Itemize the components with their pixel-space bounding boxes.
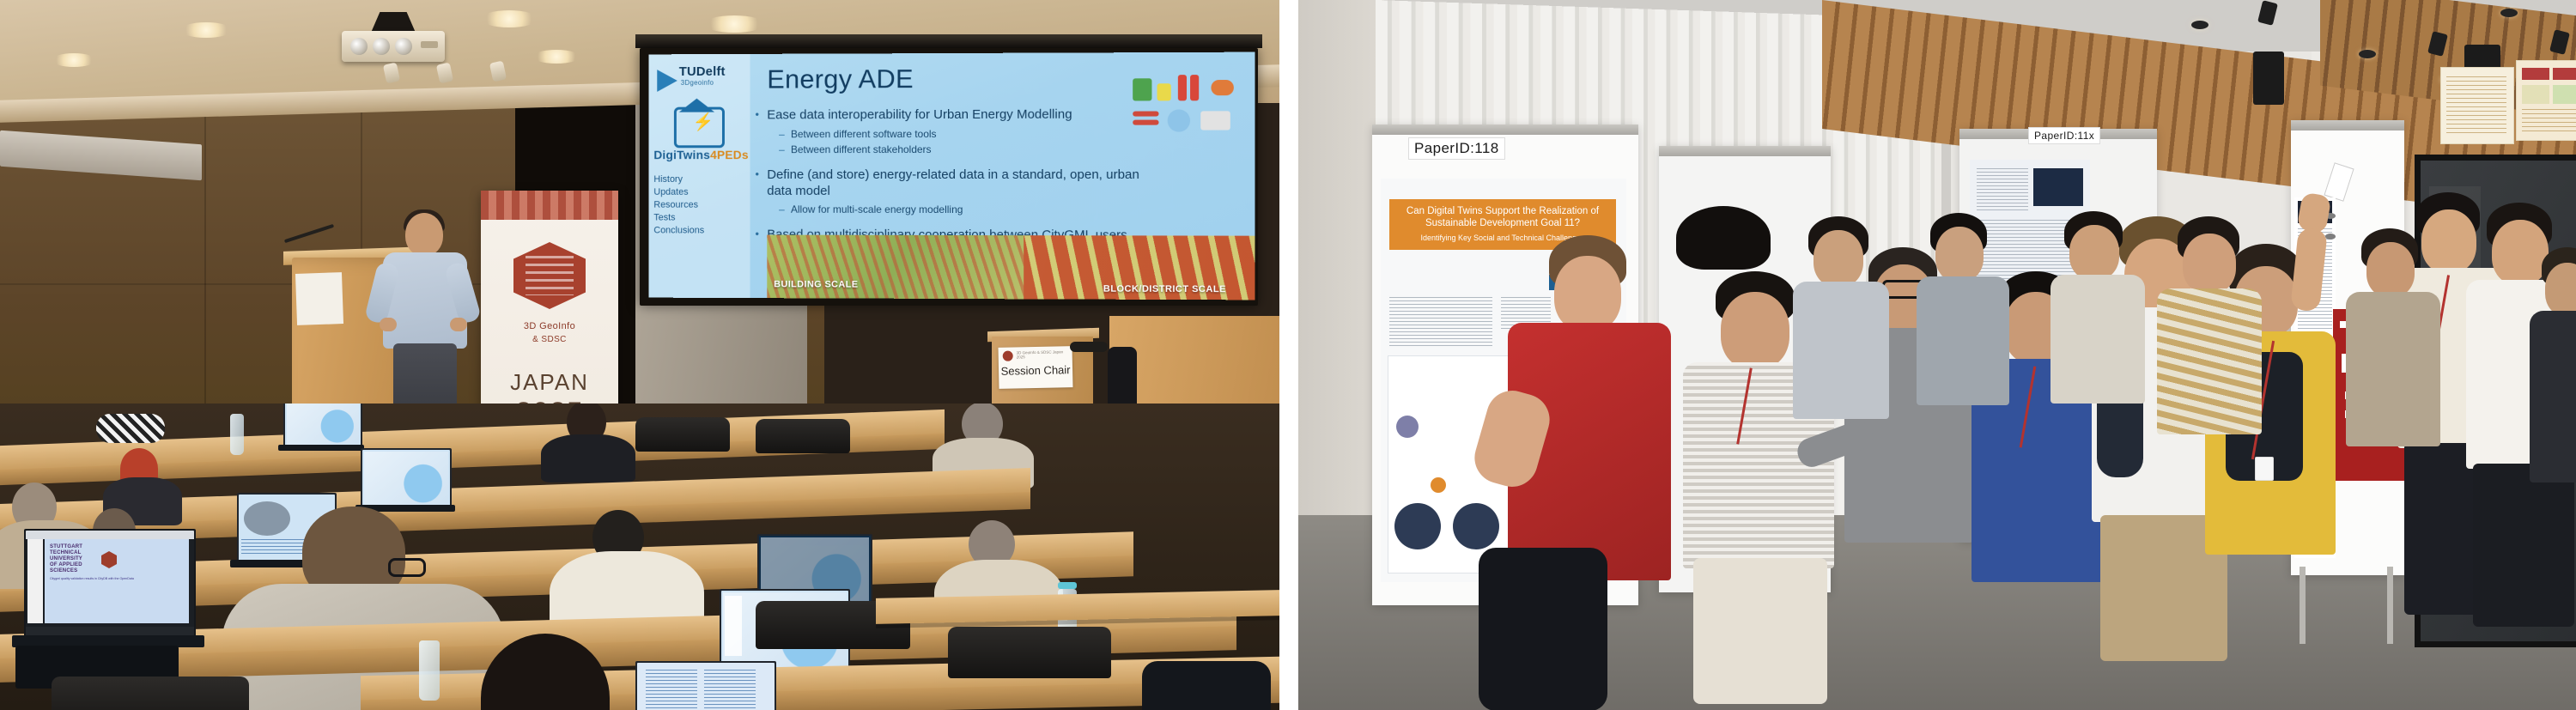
slide-map-graphic: BUILDING SCALE BLOCK/DISTRICT SCALE — [767, 235, 1255, 300]
conference-hex-logo — [101, 551, 117, 568]
projection-screen-roller — [635, 34, 1262, 48]
poster-board-rail — [1372, 124, 1638, 135]
poster-paper-id: PaperID:118 — [1408, 137, 1505, 160]
eyeglasses-icon — [388, 558, 426, 577]
seat — [52, 677, 249, 710]
audience-person — [541, 434, 635, 482]
session-chair-sign-label: Session Chair — [999, 363, 1072, 378]
slide-nav-item: Conclusions — [653, 224, 704, 237]
seat — [756, 419, 850, 453]
ceiling-downlight — [180, 22, 232, 38]
wall-poster — [2516, 60, 2576, 141]
board-clip — [2325, 234, 2336, 240]
slide-nav-item: History — [653, 173, 704, 186]
slide-nav-item: Updates — [653, 186, 704, 199]
panel-divider — [1279, 0, 1298, 710]
tu-delft-flame-icon — [657, 70, 677, 92]
ceiling-downlight — [532, 50, 580, 64]
project-logo-label: DigiTwins4PEDs — [653, 148, 748, 161]
slide-decorative-icons — [1127, 71, 1249, 167]
stuttgart-slide-caption: Citygml quality validation results in Ci… — [50, 577, 182, 581]
map-label-building: BUILDING SCALE — [774, 279, 858, 289]
slide-bullet-2: Define (and store) energy-related data i… — [767, 167, 1153, 199]
slide-nav-item: Resources — [653, 199, 704, 212]
ceiling-projector — [342, 31, 445, 62]
lightning-bolt-icon: ⚡ — [693, 114, 714, 131]
screenshot-root: TUDelft 3Dgeoinfo ⚡ DigiTwins4PEDs Histo… — [0, 0, 2576, 710]
presenter — [371, 213, 474, 436]
map-label-district: BLOCK/DISTRICT SCALE — [1103, 284, 1226, 295]
name-badge — [2255, 457, 2274, 481]
conference-hex-logo — [513, 242, 586, 309]
water-bottle — [230, 414, 244, 455]
seat — [635, 417, 730, 452]
water-bottle — [419, 640, 440, 701]
session-chair-sign: 3D GeoInfo & SDSC Japan 2025 Session Cha… — [999, 346, 1073, 389]
digitwins-house-icon: ⚡ — [674, 102, 720, 143]
poster-title-text: Can Digital Twins Support the Realizatio… — [1406, 206, 1599, 228]
slide-bullet-1: Ease data interoperability for Urban Ene… — [767, 106, 1170, 123]
wall-seam — [204, 93, 206, 436]
ceiling-downlight — [481, 10, 538, 27]
ceiling-speaker — [2253, 52, 2284, 105]
attendee-bag — [1479, 548, 1607, 710]
poster-paper-id: PaperID:11x — [2028, 127, 2100, 144]
banner-country: JAPAN — [481, 369, 618, 396]
left-photo-lecture-hall: TUDelft 3Dgeoinfo ⚡ DigiTwins4PEDs Histo… — [0, 0, 1279, 710]
poster-board-rail — [1659, 146, 1831, 156]
stuttgart-slide-lines: STUTTGART TECHNICAL UNIVERSITY OF APPLIE… — [50, 544, 82, 574]
right-photo-poster-session: PaperID:118 Can Digital Twins Support th… — [1298, 0, 2576, 710]
slide-subbullet-1: Between different software tools — [791, 127, 1161, 142]
slide-org-line1: TUDelft — [679, 64, 726, 79]
banner-line2: & SDSC — [481, 335, 618, 344]
project-logo-part1: DigiTwins — [653, 148, 710, 161]
ceiling-downlight — [704, 15, 764, 33]
ceiling-downlight — [52, 53, 96, 67]
ceiling-downlight — [2191, 21, 2208, 29]
wall-poster — [2440, 67, 2514, 144]
lectern-papers — [295, 272, 343, 325]
session-chair-sign-smallprint: 3D GeoInfo & SDSC Japan 2025 — [1017, 349, 1072, 359]
presentation-slide: TUDelft 3Dgeoinfo ⚡ DigiTwins4PEDs Histo… — [648, 52, 1255, 300]
slide-nav-list: History Updates Resources Tests Conclusi… — [653, 173, 704, 237]
seat — [948, 627, 1111, 678]
banner-line1: 3D GeoInfo — [481, 321, 618, 331]
ceiling-downlight — [2359, 50, 2376, 58]
slide-title: Energy ADE — [767, 64, 914, 94]
conference-mark-icon — [1003, 351, 1013, 361]
audience-seating: STUTTGART TECHNICAL UNIVERSITY OF APPLIE… — [0, 404, 1279, 710]
slide-nav-item: Tests — [653, 212, 704, 225]
slide-org-line2: 3Dgeoinfo — [681, 79, 714, 87]
audience-polka-hat — [96, 414, 165, 443]
project-logo-part2: 4PEDs — [710, 148, 749, 161]
backpack — [1142, 661, 1271, 710]
ceiling-track-spotlight — [2257, 0, 2278, 26]
tu-delft-logo: TUDelft 3Dgeoinfo — [657, 61, 744, 97]
ceiling-downlight — [2500, 9, 2518, 17]
poster-board-rail — [2291, 120, 2404, 130]
slide-subbullet-3: Allow for multi-scale energy modelling — [791, 203, 1161, 216]
slide-subbullet-2: Between different stakeholders — [791, 143, 1161, 156]
podium-microphone — [1070, 342, 1108, 352]
